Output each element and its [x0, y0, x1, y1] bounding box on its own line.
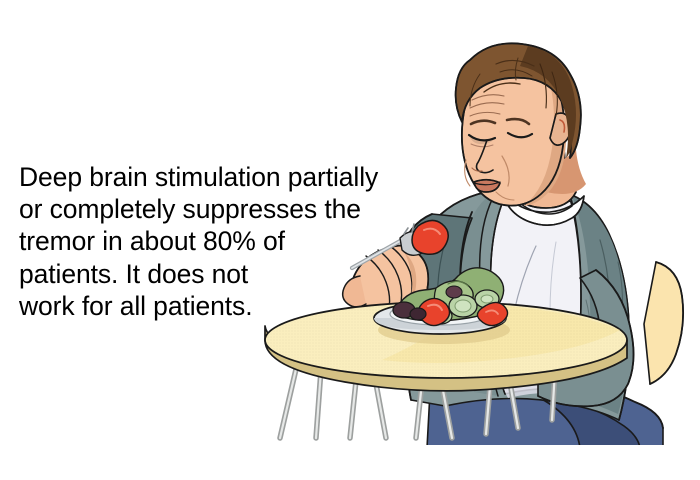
caption-text: Deep brain stimulation partially or comp…: [19, 161, 419, 322]
chair-back: [644, 262, 683, 384]
illustrated-health-slide: Deep brain stimulation partially or comp…: [0, 0, 700, 480]
